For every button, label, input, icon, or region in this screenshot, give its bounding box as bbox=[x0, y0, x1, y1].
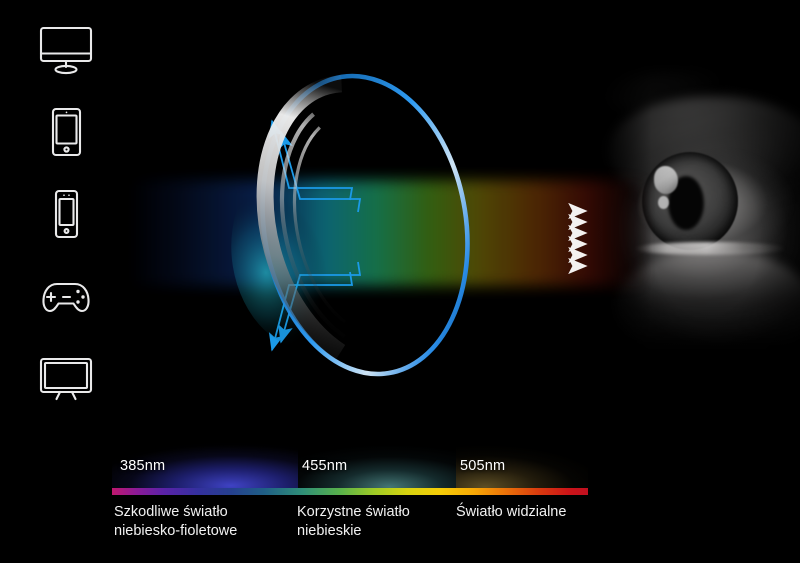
diagram-canvas: 385nm 455nm 505nm Szkodliwe światło nieb… bbox=[0, 0, 800, 563]
game-controller-icon bbox=[35, 268, 97, 324]
spectrum-gradient-bar bbox=[112, 488, 588, 495]
device-icon-rail bbox=[26, 22, 106, 406]
tablet-icon bbox=[35, 104, 97, 160]
spectrum-glow-segments: 385nm 455nm 505nm bbox=[112, 430, 588, 488]
caption-harmful-blue-violet: Szkodliwe światło niebiesko-fioletowe bbox=[114, 503, 237, 541]
spectrum-legend: 385nm 455nm 505nm Szkodliwe światło nieb… bbox=[112, 430, 588, 547]
caption-visible-light: Światło widzialne bbox=[456, 503, 566, 522]
eyeglass-lens bbox=[240, 60, 490, 390]
wavelength-tick-505: 505nm bbox=[460, 458, 505, 474]
wavelength-tick-385: 385nm bbox=[120, 458, 165, 474]
wavelength-tick-455: 455nm bbox=[302, 458, 347, 474]
caption-beneficial-blue: Korzystne światło niebieskie bbox=[297, 503, 410, 541]
desktop-monitor-icon bbox=[35, 22, 97, 78]
television-icon bbox=[35, 350, 97, 406]
spectrum-captions: Szkodliwe światło niebiesko-fioletowe Ko… bbox=[112, 503, 588, 547]
smartphone-icon bbox=[35, 186, 97, 242]
